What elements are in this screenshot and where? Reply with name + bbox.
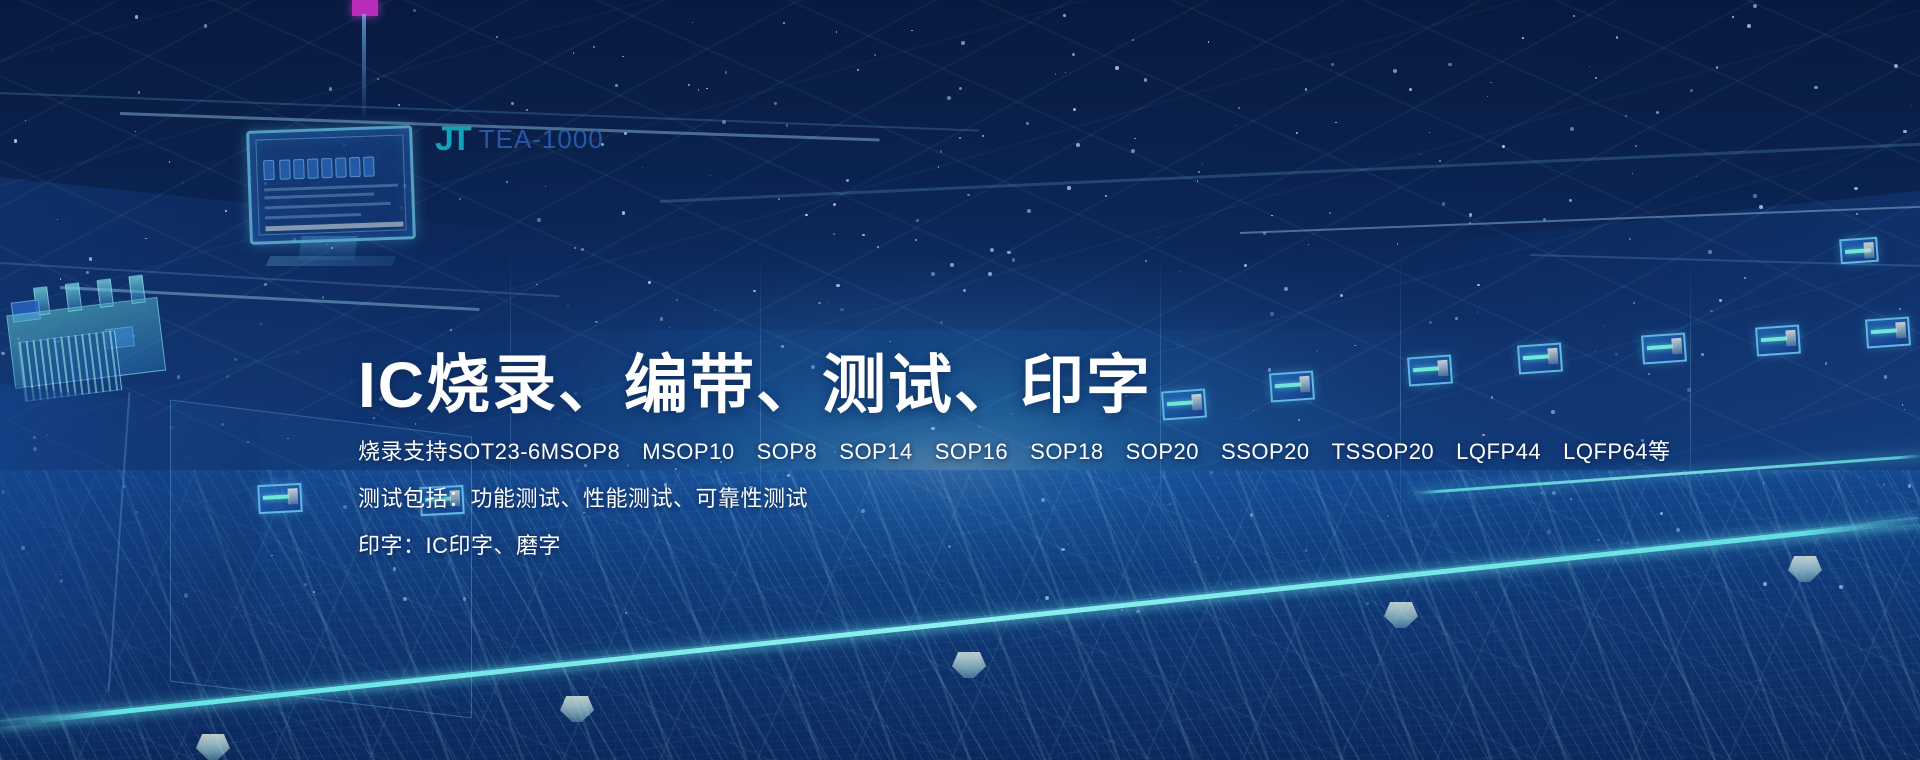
star-particle bbox=[1629, 238, 1631, 240]
star-particle bbox=[1732, 16, 1733, 17]
star-particle bbox=[1708, 250, 1712, 254]
star-particle bbox=[135, 15, 139, 19]
star-particle bbox=[225, 210, 227, 212]
star-particle bbox=[329, 87, 333, 91]
star-particle bbox=[1814, 86, 1818, 90]
star-particle bbox=[1856, 213, 1858, 215]
room-column bbox=[1690, 250, 1691, 550]
star-particle bbox=[1904, 409, 1905, 410]
star-particle bbox=[204, 24, 207, 27]
star-particle bbox=[25, 120, 26, 121]
package-label: SOP14 bbox=[839, 428, 912, 475]
star-particle bbox=[1763, 482, 1765, 484]
star-particle bbox=[1696, 176, 1697, 177]
star-particle bbox=[1903, 130, 1906, 133]
star-particle bbox=[57, 219, 58, 220]
star-particle bbox=[86, 271, 90, 275]
star-particle bbox=[1753, 194, 1757, 198]
chip-tray-icon bbox=[1641, 333, 1687, 365]
page-title: IC烧录、编带、测试、印字 bbox=[358, 353, 1152, 417]
star-particle bbox=[226, 375, 229, 378]
printing-line: 印字：IC印字、磨字 bbox=[358, 522, 1671, 569]
star-particle bbox=[1894, 64, 1898, 68]
chip-tray-icon bbox=[1839, 237, 1879, 265]
star-particle bbox=[169, 161, 170, 162]
chip-tray-icon bbox=[257, 483, 302, 514]
star-particle bbox=[1763, 582, 1767, 586]
star-particle bbox=[1902, 404, 1904, 406]
star-particle bbox=[1883, 483, 1886, 486]
star-particle bbox=[1719, 299, 1722, 302]
star-particle bbox=[1866, 500, 1868, 502]
star-particle bbox=[322, 296, 325, 299]
package-label: SOP16 bbox=[935, 428, 1008, 475]
star-particle bbox=[14, 139, 17, 142]
package-label: SSOP20 bbox=[1221, 428, 1310, 475]
package-label: SOP8 bbox=[757, 428, 818, 475]
star-particle bbox=[1753, 4, 1757, 8]
star-particle bbox=[138, 91, 141, 94]
star-particle bbox=[1744, 277, 1746, 279]
star-particle bbox=[1884, 375, 1888, 379]
star-particle bbox=[1747, 24, 1751, 28]
star-particle bbox=[1632, 173, 1633, 174]
burn-support-line: 烧录支持SOT23-6MSOP8MSOP10SOP8SOP14SOP16SOP1… bbox=[358, 428, 1671, 475]
star-particle bbox=[1690, 89, 1693, 92]
star-particle bbox=[260, 323, 262, 325]
star-particle bbox=[145, 238, 147, 240]
star-particle bbox=[60, 278, 62, 280]
chip-tray-icon bbox=[1865, 317, 1911, 349]
star-particle bbox=[1716, 66, 1718, 68]
star-particle bbox=[1759, 205, 1763, 209]
star-particle bbox=[182, 182, 183, 183]
package-label: MSOP8 bbox=[541, 428, 621, 475]
chip-tray-icon bbox=[1755, 325, 1801, 357]
star-particle bbox=[89, 257, 93, 261]
star-particle bbox=[1854, 187, 1858, 191]
service-detail-list: 烧录支持SOT23-6MSOP8MSOP10SOP8SOP14SOP16SOP1… bbox=[358, 428, 1671, 569]
star-particle bbox=[1, 352, 4, 355]
star-particle bbox=[1911, 105, 1912, 106]
star-particle bbox=[234, 358, 237, 361]
star-particle bbox=[135, 131, 136, 132]
package-label: MSOP10 bbox=[642, 428, 734, 475]
star-particle bbox=[1898, 356, 1899, 357]
star-particle bbox=[264, 283, 267, 286]
star-particle bbox=[1633, 302, 1635, 304]
test-scope-line: 测试包括：功能测试、性能测试、可靠性测试 bbox=[358, 475, 1671, 522]
star-particle bbox=[297, 351, 299, 353]
star-particle bbox=[1625, 115, 1627, 117]
star-particle bbox=[1908, 484, 1912, 488]
star-particle bbox=[1676, 528, 1680, 532]
burn-prefix-text: 烧录支持SOT23-6 bbox=[358, 428, 541, 475]
star-particle bbox=[207, 359, 209, 361]
star-particle bbox=[1825, 362, 1827, 364]
package-label: LQFP44 bbox=[1456, 428, 1541, 475]
banner-content: IC烧录、编带、测试、印字 烧录支持SOT23-6MSOP8MSOP10SOP8… bbox=[358, 0, 1618, 760]
star-particle bbox=[177, 375, 181, 379]
star-particle bbox=[1648, 373, 1650, 375]
package-label: SOP18 bbox=[1030, 428, 1103, 475]
star-particle bbox=[52, 49, 53, 50]
star-particle bbox=[351, 380, 352, 381]
star-particle bbox=[1656, 111, 1660, 115]
package-label: LQFP64等 bbox=[1563, 428, 1670, 475]
star-particle bbox=[1710, 310, 1713, 313]
star-particle bbox=[1635, 145, 1638, 148]
package-label: SOP20 bbox=[1126, 428, 1199, 475]
package-label: TSSOP20 bbox=[1332, 428, 1435, 475]
star-particle bbox=[1701, 353, 1704, 356]
star-particle bbox=[1899, 308, 1901, 310]
ic-service-banner: JT TEA-1000 IC烧录、编带、测试、印字 烧录支持SOT2 bbox=[0, 0, 1920, 760]
star-particle bbox=[1839, 585, 1843, 589]
